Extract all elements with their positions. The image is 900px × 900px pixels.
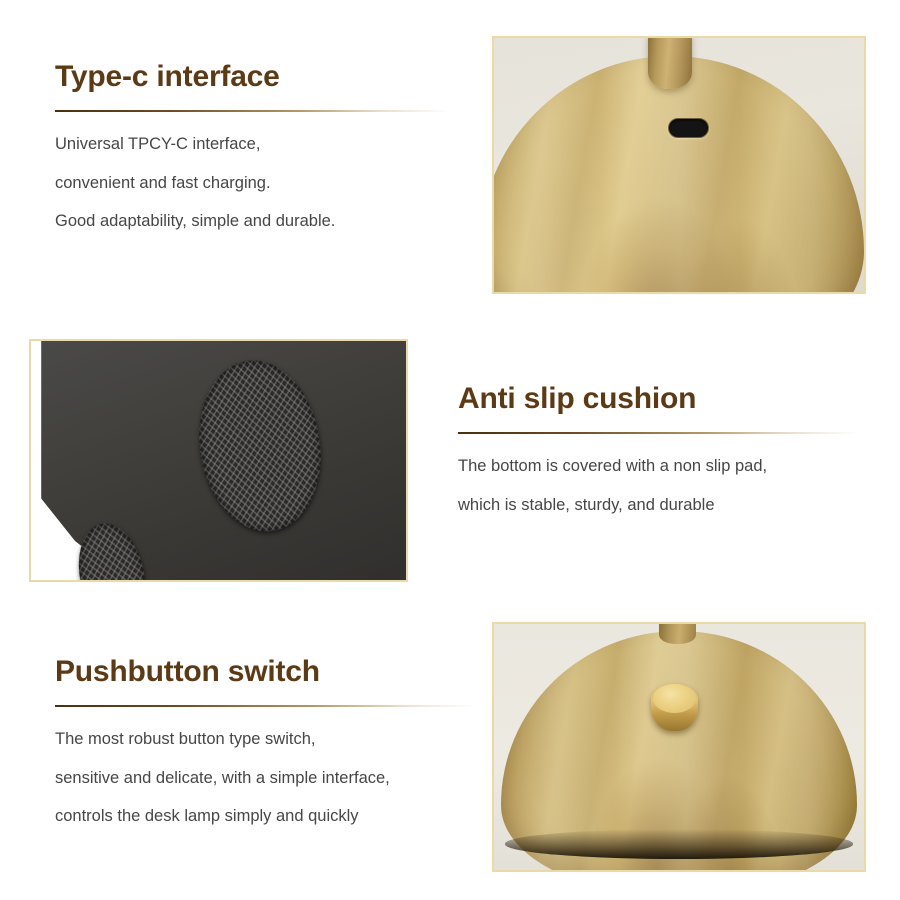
section-anti-slip-body: The bottom is covered with a non slip pa… (458, 458, 858, 513)
section-type-c-divider (55, 110, 450, 112)
body-line: The bottom is covered with a non slip pa… (458, 458, 858, 475)
base-rim (505, 829, 853, 859)
product-feature-page: Type-c interface Universal TPCY-C interf… (0, 0, 900, 900)
type-c-port-photo (492, 36, 866, 294)
push-button-switch-icon (651, 684, 697, 731)
body-line: controls the desk lamp simply and quickl… (55, 808, 475, 825)
lamp-stem (659, 622, 696, 644)
lamp-stem (648, 36, 692, 89)
body-line: which is stable, sturdy, and durable (458, 497, 858, 514)
section-type-c-interface-text: Type-c interface Universal TPCY-C interf… (55, 60, 450, 230)
body-line: Universal TPCY-C interface, (55, 136, 450, 153)
push-button-top (653, 684, 696, 713)
section-pushbutton-body: The most robust button type switch, sens… (55, 731, 475, 825)
section-anti-slip-cushion-text: Anti slip cushion The bottom is covered … (458, 382, 858, 513)
usb-type-c-port-icon (668, 118, 709, 138)
section-type-c-heading: Type-c interface (55, 60, 450, 93)
section-anti-slip-divider (458, 432, 858, 434)
body-line: The most robust button type switch, (55, 731, 475, 748)
body-line: convenient and fast charging. (55, 175, 450, 192)
section-type-c-body: Universal TPCY-C interface, convenient a… (55, 136, 450, 230)
section-pushbutton-divider (55, 705, 475, 707)
section-pushbutton-heading: Pushbutton switch (55, 655, 475, 688)
section-pushbutton-switch-text: Pushbutton switch The most robust button… (55, 655, 475, 825)
anti-slip-pad-photo (29, 339, 408, 582)
body-line: Good adaptability, simple and durable. (55, 213, 450, 230)
body-line: sensitive and delicate, with a simple in… (55, 770, 475, 787)
pushbutton-switch-photo (492, 622, 866, 872)
section-anti-slip-heading: Anti slip cushion (458, 382, 858, 415)
